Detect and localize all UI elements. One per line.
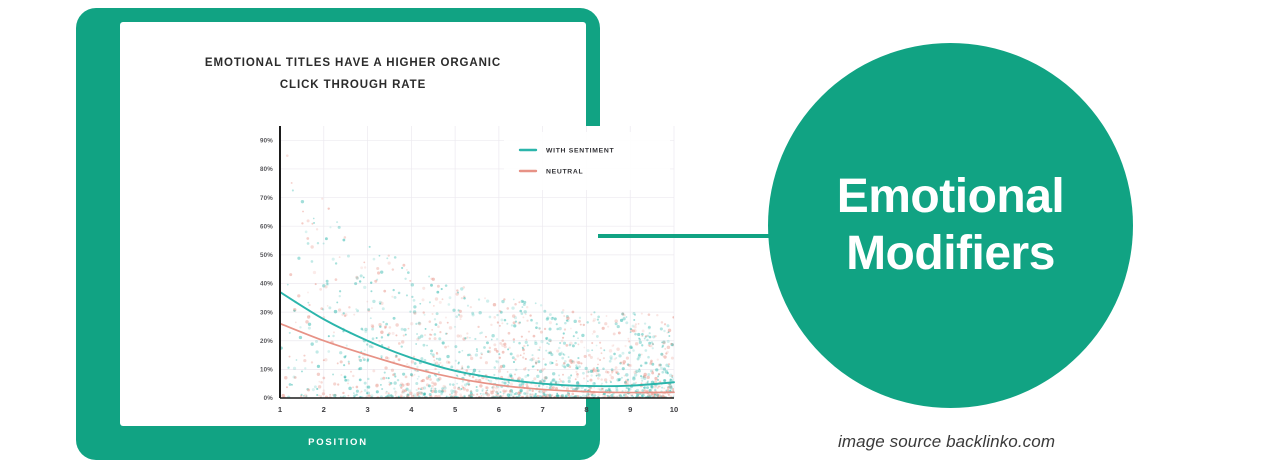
- legend-label: NEUTRAL: [546, 168, 583, 175]
- x-tick-label: 10: [670, 405, 678, 414]
- y-tick-label: 80%: [260, 166, 273, 173]
- x-tick-labels: 12345678910: [278, 405, 678, 414]
- x-tick-label: 3: [365, 405, 369, 414]
- y-tick-label: 90%: [260, 138, 273, 145]
- x-axis-title: POSITION: [76, 437, 600, 448]
- chart-title: EMOTIONAL TITLES HAVE A HIGHER ORGANIC C…: [120, 52, 586, 96]
- x-tick-label: 7: [541, 405, 545, 414]
- y-tick-label: 30%: [260, 309, 273, 316]
- y-tick-label: 60%: [260, 223, 273, 230]
- x-tick-label: 9: [628, 405, 632, 414]
- y-tick-label: 50%: [260, 252, 273, 259]
- x-tick-label: 8: [584, 405, 588, 414]
- emotional-modifiers-bubble: Emotional Modifiers: [768, 43, 1133, 408]
- x-tick-label: 2: [322, 405, 326, 414]
- x-tick-label: 1: [278, 405, 283, 414]
- plot-svg: 0%10%20%30%40%50%60%70%80%90% 1234567891…: [240, 118, 680, 418]
- image-credit: image source backlinko.com: [838, 432, 1055, 452]
- y-tick-label: 20%: [260, 338, 273, 345]
- scatter-plot: 0%10%20%30%40%50%60%70%80%90% 1234567891…: [240, 118, 680, 418]
- chart-panel: EMOTIONAL TITLES HAVE A HIGHER ORGANIC C…: [120, 22, 586, 426]
- y-tick-label: 40%: [260, 281, 273, 288]
- x-tick-label: 4: [409, 405, 414, 414]
- x-tick-label: 6: [497, 405, 501, 414]
- y-tick-labels: 0%10%20%30%40%50%60%70%80%90%: [260, 138, 273, 403]
- y-tick-label: 70%: [260, 195, 273, 202]
- bubble-label: Emotional Modifiers: [837, 169, 1065, 282]
- x-tick-label: 5: [453, 405, 458, 414]
- connector-line: [598, 234, 780, 238]
- y-tick-label: 10%: [260, 367, 273, 374]
- y-tick-label: 0%: [264, 395, 274, 402]
- chart-legend: WITH SENTIMENTNEUTRAL: [504, 132, 670, 190]
- legend-background: [504, 132, 670, 190]
- legend-label: WITH SENTIMENT: [546, 147, 614, 154]
- infographic-card: CTR POSITION EMOTIONAL TITLES HAVE A HIG…: [76, 8, 600, 460]
